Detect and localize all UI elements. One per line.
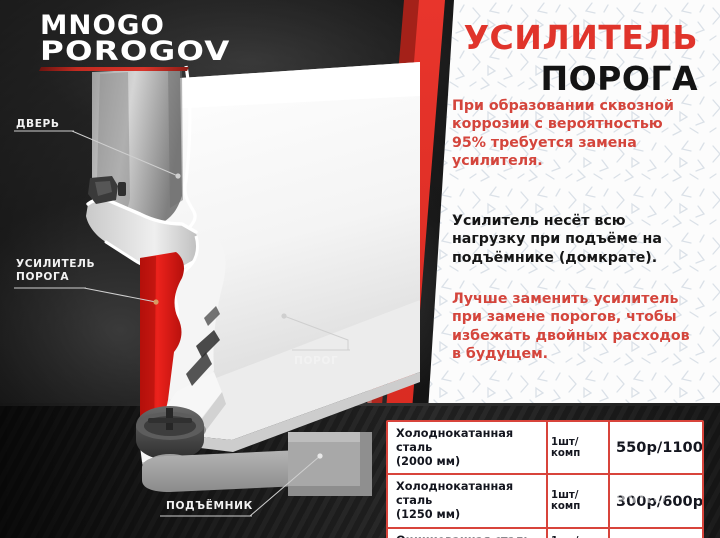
price-table: Холоднокатанная сталь (2000 мм) 1шт/комп… [386, 420, 704, 538]
table-cell-material: Холоднокатанная сталь (2000 мм) [388, 422, 548, 473]
table-cell-quantity: 1шт/комп [548, 422, 610, 473]
logo-red-underline [39, 67, 189, 71]
table-cell-price: 550р/1100р [610, 422, 704, 473]
table-cell-material: Холоднокатанная сталь (1250 мм) [388, 475, 548, 526]
label-lift: ПОДЪЁМНИК [166, 500, 253, 513]
paragraph-text-2: Усилитель несёт всю нагрузку при подъёме… [452, 212, 700, 267]
material-name-line-2: (1250 мм) [396, 508, 460, 521]
material-name-line-1: Холоднокатанная сталь [396, 480, 513, 507]
paragraph-block-2: Усилитель несёт всю нагрузку при подъёме… [452, 212, 700, 267]
paragraph-text-3: Лучше заменить усилитель при замене поро… [452, 290, 700, 364]
table-row: Оцинкованная сталь (2000 мм) 1шт/комп 60… [388, 529, 702, 538]
avito-watermark: Avito [588, 486, 666, 508]
label-sill: ПОРОГ [294, 355, 338, 368]
paragraph-block-3: Лучше заменить усилитель при замене поро… [452, 290, 700, 364]
table-row: Холоднокатанная сталь (2000 мм) 1шт/комп… [388, 422, 702, 475]
logo-line-2: POROGOV [40, 40, 232, 65]
label-reinforcement-line-2: ПОРОГА [16, 271, 95, 284]
brand-logo[interactable]: MNOGO POROGOV [40, 14, 200, 71]
paragraph-text-1: При образовании сквозной коррозии с веро… [452, 97, 700, 171]
label-reinforcement: УСИЛИТЕЛЬ ПОРОГА [16, 258, 95, 283]
material-name-line-1: Оцинкованная сталь [396, 534, 531, 538]
title-line-2: ПОРОГА [464, 59, 698, 98]
avito-logo-icon [588, 487, 609, 508]
table-cell-quantity: 1шт/комп [548, 529, 610, 538]
table-cell-material: Оцинкованная сталь (2000 мм) [388, 529, 548, 538]
label-door: ДВЕРЬ [16, 118, 60, 131]
label-reinforcement-line-1: УСИЛИТЕЛЬ [16, 258, 95, 271]
material-name-line-1: Холоднокатанная сталь [396, 427, 513, 454]
material-name-line-2: (2000 мм) [396, 455, 460, 468]
paragraph-block-1: При образовании сквозной коррозии с веро… [452, 97, 700, 171]
page-title: УСИЛИТЕЛЬ ПОРОГА [464, 18, 698, 98]
title-line-1: УСИЛИТЕЛЬ [464, 18, 698, 57]
table-cell-price: 600р/1200р [610, 529, 704, 538]
infographic-poster: MNOGO POROGOV УСИЛИТЕЛЬ ПОРОГА При образ… [0, 0, 720, 538]
avito-watermark-text: Avito [613, 486, 666, 508]
